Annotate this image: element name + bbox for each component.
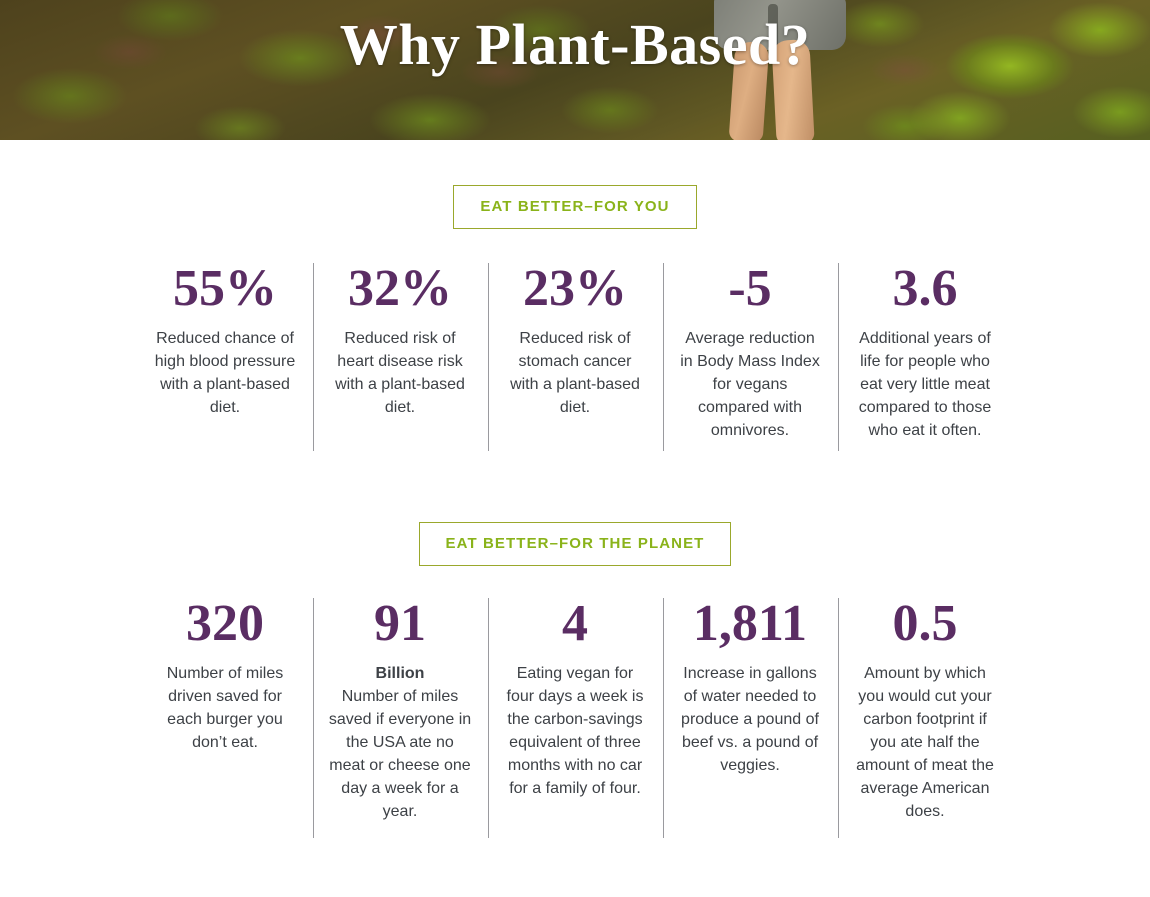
infographic-page: Why Plant-Based? EAT BETTER–FOR YOU 55% … [0, 0, 1150, 897]
stat-description: Increase in gallons of water needed to p… [677, 662, 824, 777]
stat-description: Reduced risk of stomach cancer with a pl… [502, 327, 649, 419]
stat-description: Additional years of life for people who … [852, 327, 999, 442]
spacer [0, 140, 1150, 185]
section-header-badge-you: EAT BETTER–FOR YOU [453, 185, 696, 229]
stats-row-you: 55% Reduced chance of high blood pressur… [0, 263, 1150, 442]
stat-number: 320 [152, 598, 299, 650]
stat-item: 3.6 Additional years of life for people … [838, 263, 1013, 442]
stat-description: Eating vegan for four days a week is the… [502, 662, 649, 800]
stat-item: 91 Billion Number of miles saved if ever… [313, 598, 488, 823]
stat-number: 91 [327, 598, 474, 650]
stat-item: 0.5 Amount by which you would cut your c… [838, 598, 1013, 823]
stat-item: 55% Reduced chance of high blood pressur… [138, 263, 313, 419]
stat-number: 23% [502, 263, 649, 315]
stat-number: -5 [677, 263, 824, 315]
section-header-wrap: EAT BETTER–FOR YOU [0, 185, 1150, 229]
stat-item: 320 Number of miles driven saved for eac… [138, 598, 313, 754]
section-header-wrap: EAT BETTER–FOR THE PLANET [0, 522, 1150, 566]
hero-banner: Why Plant-Based? [0, 0, 1150, 140]
stats-row-planet: 320 Number of miles driven saved for eac… [0, 598, 1150, 823]
stat-number: 3.6 [852, 263, 999, 315]
stat-subtitle: Billion [327, 662, 474, 685]
stat-number: 55% [152, 263, 299, 315]
stat-description: Amount by which you would cut your carbo… [852, 662, 999, 823]
stat-item: -5 Average reduction in Body Mass Index … [663, 263, 838, 442]
stat-number: 1,811 [677, 598, 824, 650]
section-header-badge-planet: EAT BETTER–FOR THE PLANET [419, 522, 732, 566]
stat-item: 1,811 Increase in gallons of water neede… [663, 598, 838, 777]
stat-description: Reduced risk of heart disease risk with … [327, 327, 474, 419]
stat-number: 0.5 [852, 598, 999, 650]
section-eat-better-for-you: EAT BETTER–FOR YOU 55% Reduced chance of… [0, 185, 1150, 442]
stat-description: Average reduction in Body Mass Index for… [677, 327, 824, 442]
stat-description: Reduced chance of high blood pressure wi… [152, 327, 299, 419]
stat-item: 23% Reduced risk of stomach cancer with … [488, 263, 663, 419]
stat-number: 32% [327, 263, 474, 315]
stat-number: 4 [502, 598, 649, 650]
section-eat-better-for-the-planet: EAT BETTER–FOR THE PLANET 320 Number of … [0, 522, 1150, 823]
spacer [0, 442, 1150, 522]
stat-description: Number of miles saved if everyone in the… [327, 685, 474, 823]
page-title: Why Plant-Based? [0, 10, 1150, 80]
stat-description: Number of miles driven saved for each bu… [152, 662, 299, 754]
stat-item: 32% Reduced risk of heart disease risk w… [313, 263, 488, 419]
stat-item: 4 Eating vegan for four days a week is t… [488, 598, 663, 800]
